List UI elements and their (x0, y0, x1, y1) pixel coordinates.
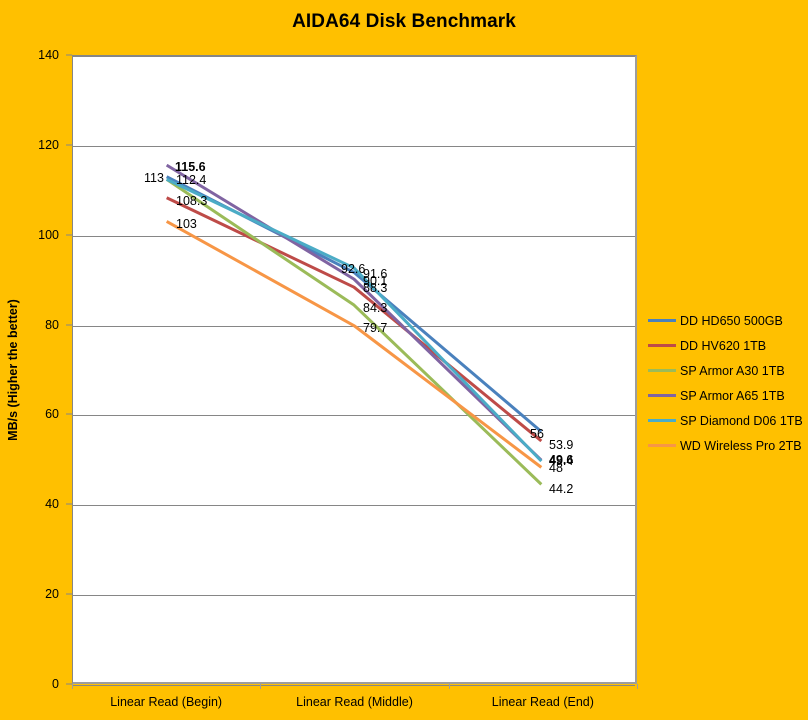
chart-title: AIDA64 Disk Benchmark (0, 11, 808, 33)
legend-item[interactable]: WD Wireless Pro 2TB (648, 433, 806, 458)
legend-color-swatch (648, 369, 676, 372)
legend-color-swatch (648, 394, 676, 397)
data-point-label: 56 (530, 427, 544, 441)
legend-item[interactable]: SP Diamond D06 1TB (648, 408, 806, 433)
x-tick-label: Linear Read (Middle) (296, 695, 413, 709)
legend-item[interactable]: SP Armor A30 1TB (648, 358, 806, 383)
legend-item[interactable]: DD HD650 500GB (648, 308, 806, 333)
legend-item[interactable]: DD HV620 1TB (648, 333, 806, 358)
x-tick-label: Linear Read (End) (492, 695, 594, 709)
data-point-label: 88.3 (363, 281, 387, 295)
x-tick-mark (72, 684, 73, 689)
legend-color-swatch (648, 319, 676, 322)
data-point-label: 44.2 (549, 482, 573, 496)
y-tick-label: 120 (38, 138, 59, 152)
data-point-label: 112.4 (176, 173, 206, 187)
x-axis: Linear Read (Begin)Linear Read (Middle)L… (72, 684, 637, 718)
series-lines (73, 56, 635, 682)
data-point-label: 108.3 (176, 194, 207, 208)
y-tick-label: 60 (45, 407, 59, 421)
data-point-label: 48 (549, 461, 563, 475)
legend-label: WD Wireless Pro 2TB (680, 439, 802, 453)
chart-legend: DD HD650 500GBDD HV620 1TBSP Armor A30 1… (648, 308, 806, 458)
legend-item[interactable]: SP Armor A65 1TB (648, 383, 806, 408)
data-point-label: 103 (176, 217, 197, 231)
y-tick-label: 140 (38, 48, 59, 62)
legend-color-swatch (648, 419, 676, 422)
legend-label: DD HV620 1TB (680, 339, 766, 353)
data-point-label: 92.6 (341, 262, 365, 276)
series-line (167, 179, 542, 461)
legend-color-swatch (648, 444, 676, 447)
legend-label: DD HD650 500GB (680, 314, 783, 328)
y-tick-label: 40 (45, 497, 59, 511)
y-axis: MB/s (Higher the better) 020406080100120… (0, 55, 72, 684)
chart-root: AIDA64 Disk Benchmark MB/s (Higher the b… (0, 0, 808, 720)
y-tick-label: 100 (38, 228, 59, 242)
data-point-label: 79.7 (363, 321, 387, 335)
y-axis-title: MB/s (Higher the better) (6, 270, 20, 470)
data-point-label: 115.6 (175, 160, 206, 174)
legend-label: SP Armor A30 1TB (680, 364, 785, 378)
data-point-label: 53.9 (549, 438, 573, 452)
plot-area (72, 55, 637, 684)
x-tick-mark (637, 684, 638, 689)
legend-color-swatch (648, 344, 676, 347)
data-point-label: 113 (144, 171, 164, 185)
data-point-label: 84.3 (363, 301, 387, 315)
y-tick-label: 80 (45, 318, 59, 332)
legend-label: SP Armor A65 1TB (680, 389, 785, 403)
series-line (167, 165, 542, 460)
legend-label: SP Diamond D06 1TB (680, 414, 803, 428)
x-tick-label: Linear Read (Begin) (110, 695, 222, 709)
y-tick-label: 20 (45, 587, 59, 601)
x-tick-mark (449, 684, 450, 689)
y-tick-label: 0 (52, 677, 59, 691)
x-tick-mark (260, 684, 261, 689)
